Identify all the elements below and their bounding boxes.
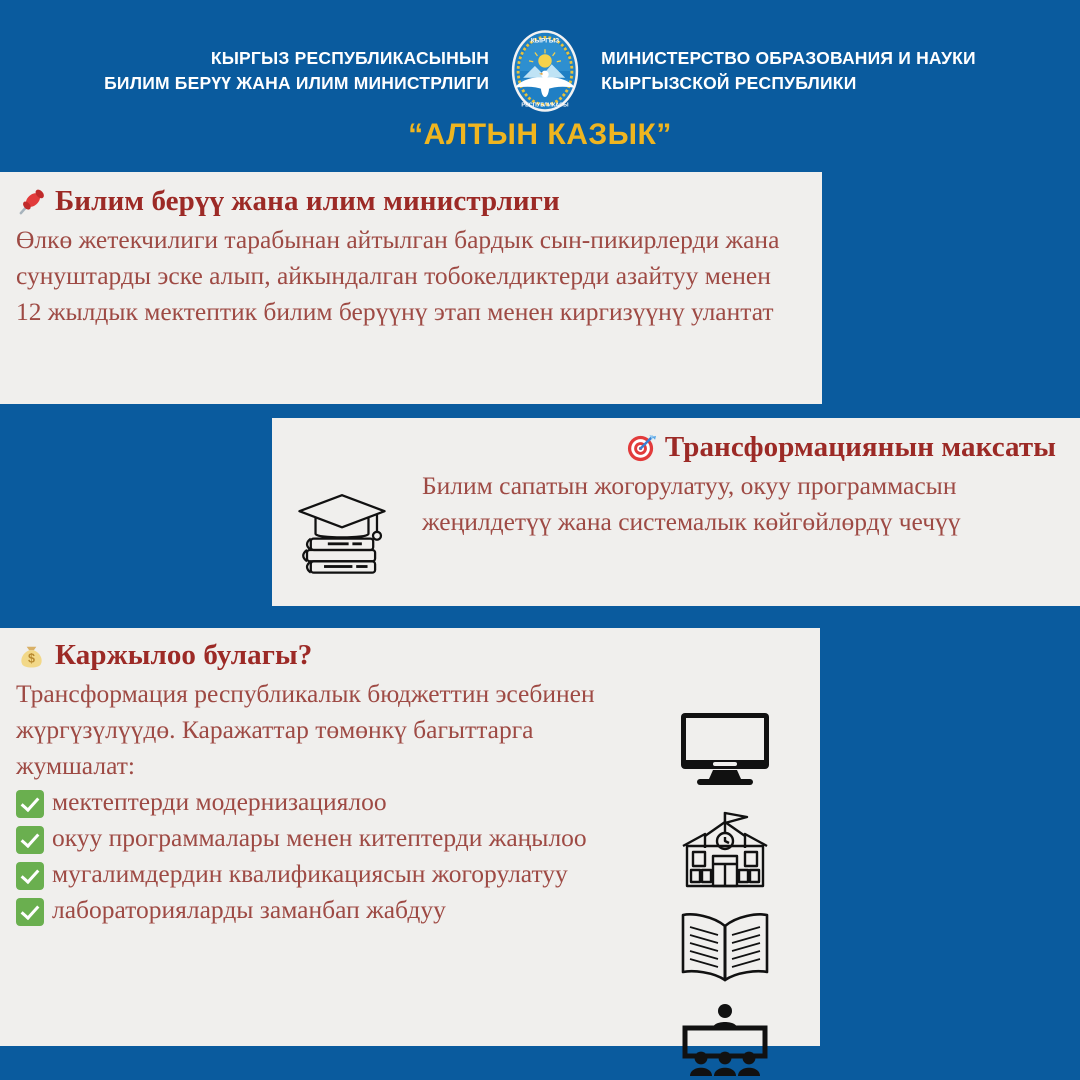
check-mark-icon	[16, 898, 44, 926]
graduation-cap-books-icon	[290, 468, 400, 583]
card-funding-source: $ Каржылоо булагы? Трансформация республ…	[0, 628, 820, 1046]
card-transformation-goal: Трансформациянын максаты	[272, 418, 1080, 606]
card-ministry-header: Билим берүү жана илим министрлиги	[16, 186, 800, 218]
card-goal-body: Билим сапатын жогорулатуу, окуу программ…	[410, 468, 1062, 540]
check-mark-icon	[16, 790, 44, 818]
header-left-line1: КЫРГЫЗ РЕСПУБЛИКАСЫНЫН	[104, 46, 489, 71]
funding-bullet-label: лабораторияларды заманбап жабдуу	[52, 892, 650, 928]
funding-bullet-item: мектептерди модернизациялоо	[16, 784, 650, 820]
page-title: “АЛТЫН КАЗЫК”	[0, 118, 1080, 152]
header-left-line2: БИЛИМ БЕРҮҮ ЖАНА ИЛИМ МИНИСТРЛИГИ	[104, 71, 489, 96]
funding-bullet-label: мугалимдердин квалификациясын жогорулату…	[52, 856, 650, 892]
funding-icon-column	[650, 676, 800, 1080]
svg-text:КЫРГЫЗ: КЫРГЫЗ	[531, 37, 559, 44]
card-funding-header: $ Каржылоо булагы?	[16, 640, 800, 672]
card-ministry-body: Өлкө жетекчилиги тарабынан айтылган бард…	[16, 222, 800, 330]
card-funding-content: Трансформация республикалык бюджеттин эс…	[16, 676, 800, 1080]
monitor-screen-icon	[677, 710, 773, 795]
card-funding-body: Трансформация республикалык бюджеттин эс…	[16, 676, 650, 784]
check-mark-icon	[16, 862, 44, 890]
kyrgyz-republic-emblem-icon: КЫРГЫЗ РЕСПУБЛИКАСЫ	[503, 29, 587, 113]
funding-bullet-label: мектептерди модернизациялоо	[52, 784, 650, 820]
funding-bullet-item: лабораторияларды заманбап жабдуу	[16, 892, 650, 928]
card-ministry: Билим берүү жана илим министрлиги Өлкө ж…	[0, 172, 822, 404]
header-ministry-row: КЫРГЫЗ РЕСПУБЛИКАСЫНЫН БИЛИМ БЕРҮҮ ЖАНА …	[0, 30, 1080, 112]
card-ministry-title: Билим берүү жана илим министрлиги	[55, 186, 560, 218]
card-funding-title: Каржылоо булагы?	[55, 640, 312, 672]
classroom-teaching-icon	[675, 1002, 775, 1080]
school-building-icon	[675, 808, 775, 897]
header-right-line1: МИНИСТЕРСТВО ОБРАЗОВАНИЯ И НАУКИ	[601, 46, 976, 71]
funding-bullet-item: мугалимдердин квалификациясын жогорулату…	[16, 856, 650, 892]
svg-text:$: $	[28, 652, 35, 666]
dart-target-icon	[626, 432, 657, 463]
header-banner: КЫРГЫЗ РЕСПУБЛИКАСЫНЫН БИЛИМ БЕРҮҮ ЖАНА …	[0, 0, 1080, 170]
card-goal-header: Трансформациянын максаты	[290, 432, 1062, 464]
open-book-icon	[675, 910, 775, 989]
header-left-block: КЫРГЫЗ РЕСПУБЛИКАСЫНЫН БИЛИМ БЕРҮҮ ЖАНА …	[104, 46, 503, 96]
infographic-page: КЫРГЫЗ РЕСПУБЛИКАСЫНЫН БИЛИМ БЕРҮҮ ЖАНА …	[0, 0, 1080, 1080]
check-mark-icon	[16, 826, 44, 854]
funding-bullet-item: окуу программалары менен китептерди жаңы…	[16, 820, 650, 856]
money-bag-icon: $	[16, 640, 47, 671]
header-right-line2: КЫРГЫЗСКОЙ РЕСПУБЛИКИ	[601, 71, 976, 96]
pushpin-icon	[16, 186, 47, 217]
card-goal-title: Трансформациянын максаты	[665, 432, 1056, 464]
funding-bullet-label: окуу программалары менен китептерди жаңы…	[52, 820, 650, 856]
header-right-block: МИНИСТЕРСТВО ОБРАЗОВАНИЯ И НАУКИ КЫРГЫЗС…	[587, 46, 976, 96]
card-funding-text-column: Трансформация республикалык бюджеттин эс…	[16, 676, 650, 928]
svg-text:РЕСПУБЛИКАСЫ: РЕСПУБЛИКАСЫ	[522, 102, 570, 108]
card-goal-content: Билим сапатын жогорулатуу, окуу программ…	[290, 468, 1062, 583]
